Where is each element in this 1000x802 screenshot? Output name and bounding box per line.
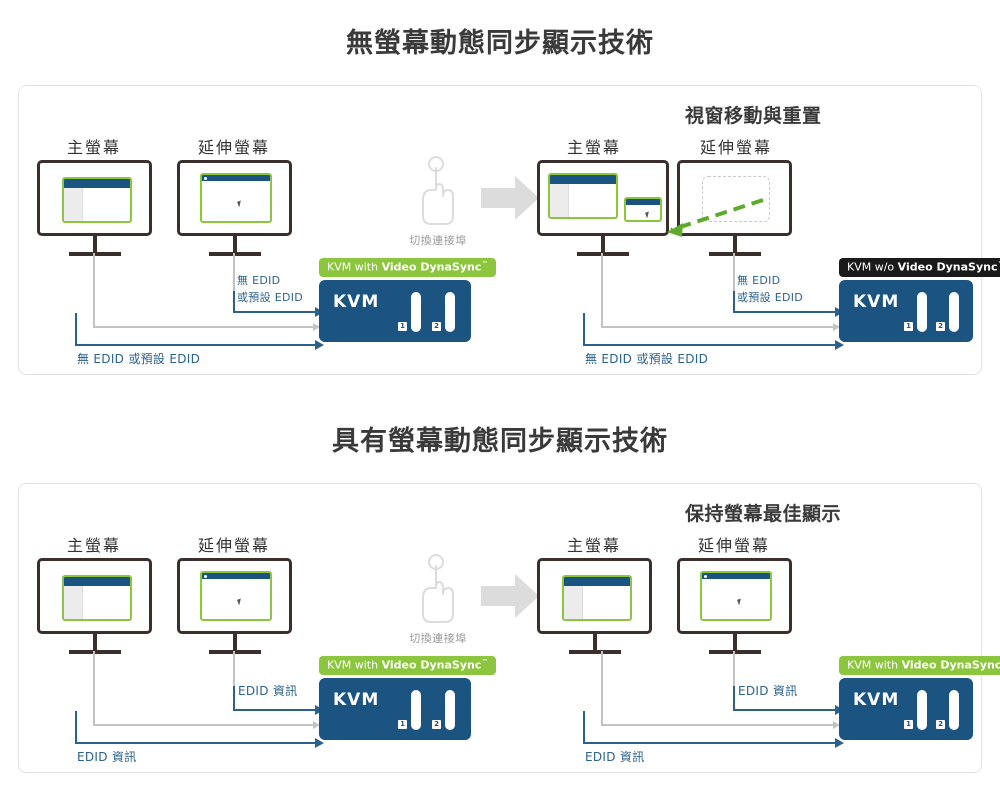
- window-titlebar-icon: [564, 577, 630, 586]
- monitor-main-screen-1l: [37, 160, 152, 236]
- monitor-main-label-1l: 主螢幕: [29, 134, 159, 158]
- kvm-port-1-2r: [917, 690, 927, 730]
- wire-ext-v-blue-2r: [733, 686, 735, 711]
- kvm-device-2l: KVM 1 2: [319, 678, 471, 740]
- kvm-port-label-2-1r: 2: [936, 322, 945, 331]
- window-move-arrow-icon: [641, 196, 771, 242]
- monitor-ext-neck-2l: [233, 634, 237, 651]
- cursor-icon: [737, 598, 743, 605]
- wire-blue-ext-seg-1l: [233, 291, 235, 313]
- window-sidebar: [64, 188, 83, 221]
- window-dot-icon: [704, 575, 707, 578]
- window-sidebar: [550, 184, 569, 217]
- monitor-main-neck-2l: [93, 634, 97, 651]
- wire-blue-ext-h-1l: [233, 311, 317, 313]
- kvm-port-1-1r: [917, 292, 927, 332]
- panel-2: 保持螢幕最佳顯示 主螢幕 延伸螢幕: [18, 483, 982, 773]
- kvm-group-1l: KVM with Video DynaSync™ KVM 1 2: [319, 258, 474, 363]
- kvm-badge-prefix: KVM with: [327, 261, 382, 274]
- wire-gray-main-h-2l: [93, 724, 315, 726]
- kvm-badge-prefix: KVM with: [847, 659, 902, 672]
- panel-1: 視窗移動與重置 主螢幕 延伸螢幕: [18, 85, 982, 375]
- monitor-main-base-1r: [577, 252, 629, 256]
- switch-label-1: 切換連接埠: [399, 232, 477, 248]
- monitor-group-left-2: 主螢幕 延伸螢幕: [29, 532, 309, 652]
- wire-label-ext-2l: EDID 資訊: [238, 682, 298, 699]
- wire-gray-main-v-1l: [93, 253, 95, 327]
- kvm-port-1-2l: [411, 690, 421, 730]
- monitor-main-base-1l: [69, 252, 121, 256]
- wire-label-ext-2r: EDID 資訊: [738, 682, 798, 699]
- kvm-word-1r: KVM: [853, 292, 899, 312]
- wire-gray-main-h-1l: [93, 326, 315, 328]
- wire-gray-main-h-2r: [601, 724, 835, 726]
- wire-gray-main-h-1r: [601, 326, 835, 328]
- wire-blue-main-v-2l: [75, 711, 77, 744]
- wire-ext-h-2l: [233, 709, 317, 711]
- window-dot-icon: [204, 177, 207, 180]
- wire-gray-main-v-1r: [601, 253, 603, 327]
- kvm-group-2l: KVM with Video DynaSync™ KVM 1 2: [319, 656, 474, 761]
- wire-blue-main-v-2r: [583, 711, 585, 744]
- window-titlebar-icon: [64, 577, 130, 586]
- wire-label-ext-line2-1l: 或預設 EDID: [237, 289, 303, 305]
- wire-ext-v-blue-2l: [233, 686, 235, 711]
- kvm-badge-1r: KVM w/o Video DynaSync™: [839, 258, 1000, 277]
- monitor-main-base-2r: [569, 650, 621, 654]
- kvm-port-label-1-1r: 1: [904, 322, 913, 331]
- wire-blue-main-v-1r: [583, 313, 585, 346]
- monitor-main-screen-2l: [37, 558, 152, 634]
- kvm-badge-brand: Video DynaSync: [898, 261, 998, 274]
- kvm-port-2-2r: [949, 690, 959, 730]
- section-title-2: 具有螢幕動態同步顯示技術: [0, 428, 1000, 455]
- window-main-2l: [62, 575, 132, 621]
- wire-blue-main-h-2r: [583, 742, 837, 744]
- monitor-main-neck-1r: [601, 236, 605, 253]
- kvm-device-1l: KVM 1 2: [319, 280, 471, 342]
- wire-blue-main-h-1r: [583, 344, 837, 346]
- monitor-ext-base-2r: [709, 650, 761, 654]
- monitor-main-label-2l: 主螢幕: [29, 532, 159, 556]
- wire-ext-h-2r: [733, 709, 837, 711]
- wire-label-ext-line1-1l: 無 EDID: [237, 272, 280, 288]
- window-dot-icon: [204, 575, 207, 578]
- wire-label-main-2l: EDID 資訊: [77, 748, 137, 765]
- window-titlebar-icon: [702, 573, 770, 579]
- kvm-group-2r: KVM with Video DynaSync™ KVM 1 2: [839, 656, 994, 761]
- kvm-word-2l: KVM: [333, 690, 379, 710]
- kvm-port-2-1r: [949, 292, 959, 332]
- wire-gray-main-v-2r: [601, 651, 603, 725]
- wire-label-ext-line1-1r: 無 EDID: [737, 272, 780, 288]
- kvm-port-label-1-1l: 1: [398, 322, 407, 331]
- kvm-word-1l: KVM: [333, 292, 379, 312]
- kvm-port-label-1-2l: 1: [398, 720, 407, 729]
- monitor-main-neck-2r: [593, 634, 597, 651]
- wire-blue-main-h-1l: [75, 344, 317, 346]
- monitor-ext-base-1l: [209, 252, 261, 256]
- panel-2-heading: 保持螢幕最佳顯示: [685, 499, 841, 526]
- window-sidebar: [64, 586, 83, 619]
- cursor-icon: [237, 200, 243, 207]
- wire-blue-main-v-1l: [75, 313, 77, 346]
- kvm-device-1r: KVM 1 2: [839, 280, 973, 342]
- monitor-ext-neck-2r: [733, 634, 737, 651]
- window-titlebar-icon: [64, 179, 130, 188]
- wire-label-ext-line2-1r: 或預設 EDID: [737, 289, 803, 305]
- kvm-port-label-2-2r: 2: [936, 720, 945, 729]
- window-titlebar-icon: [202, 175, 270, 181]
- kvm-badge-prefix: KVM w/o: [847, 261, 898, 274]
- window-main-1r: [548, 173, 618, 219]
- wire-ext-v-blue-1r: [733, 291, 735, 313]
- monitor-ext-label-1l: 延伸螢幕: [169, 134, 299, 158]
- monitor-group-right-2: 主螢幕 延伸螢幕: [529, 532, 809, 652]
- kvm-device-2r: KVM 1 2: [839, 678, 973, 740]
- hand-touch-icon: [411, 554, 461, 624]
- window-main-2r: [562, 575, 632, 621]
- window-main-1l: [62, 177, 132, 223]
- window-titlebar-icon: [550, 175, 616, 184]
- kvm-word-2r: KVM: [853, 690, 899, 710]
- window-sidebar: [564, 586, 583, 619]
- monitor-ext-neck-1l: [233, 236, 237, 253]
- kvm-badge-2r: KVM with Video DynaSync™: [839, 656, 1000, 675]
- monitor-ext-label-2r: 延伸螢幕: [669, 532, 799, 556]
- monitor-ext-label-2l: 延伸螢幕: [169, 532, 299, 556]
- monitor-main-label-1r: 主螢幕: [529, 134, 659, 158]
- cursor-icon: [237, 598, 243, 605]
- kvm-port-label-2-1l: 2: [432, 322, 441, 331]
- monitor-main-base-2l: [69, 650, 121, 654]
- kvm-port-label-1-2r: 1: [904, 720, 913, 729]
- window-titlebar-icon: [202, 573, 270, 579]
- monitor-main-label-2r: 主螢幕: [529, 532, 659, 556]
- kvm-port-2-1l: [445, 292, 455, 332]
- window-ext-2r: [700, 571, 772, 621]
- monitor-ext-label-1r: 延伸螢幕: [671, 134, 801, 158]
- kvm-port-2-2l: [445, 690, 455, 730]
- monitor-main-screen-2r: [537, 558, 652, 634]
- monitor-ext-screen-2r: [677, 558, 792, 634]
- monitor-ext-base-1r: [709, 252, 761, 256]
- monitor-ext-screen-2l: [177, 558, 292, 634]
- kvm-group-1r: KVM w/o Video DynaSync™ KVM 1 2: [839, 258, 994, 363]
- wire-blue-main-h-2l: [75, 742, 317, 744]
- wire-label-main-1r: 無 EDID 或預設 EDID: [585, 350, 708, 367]
- wire-label-main-1l: 無 EDID 或預設 EDID: [77, 350, 200, 367]
- monitor-group-right-1: 主螢幕 延伸螢幕: [529, 134, 809, 254]
- kvm-badge-brand: Video DynaSync: [902, 659, 1000, 672]
- panel-1-heading: 視窗移動與重置: [685, 101, 822, 128]
- kvm-port-label-2-2l: 2: [432, 720, 441, 729]
- wire-gray-main-v-2l: [93, 651, 95, 725]
- monitor-main-neck-1l: [93, 236, 97, 253]
- wire-ext-h-1r: [733, 311, 837, 313]
- window-ext-2l: [200, 571, 272, 621]
- switch-label-2: 切換連接埠: [399, 630, 477, 646]
- monitor-ext-screen-1l: [177, 160, 292, 236]
- window-ext-1l: [200, 173, 272, 223]
- monitor-group-left-1: 主螢幕 延伸螢幕: [29, 134, 309, 254]
- section-title-1: 無螢幕動態同步顯示技術: [0, 30, 1000, 57]
- monitor-ext-base-2l: [209, 650, 261, 654]
- wire-label-main-2r: EDID 資訊: [585, 748, 645, 765]
- kvm-badge-prefix: KVM with: [327, 659, 382, 672]
- hand-touch-icon: [411, 156, 461, 226]
- kvm-port-1-1l: [411, 292, 421, 332]
